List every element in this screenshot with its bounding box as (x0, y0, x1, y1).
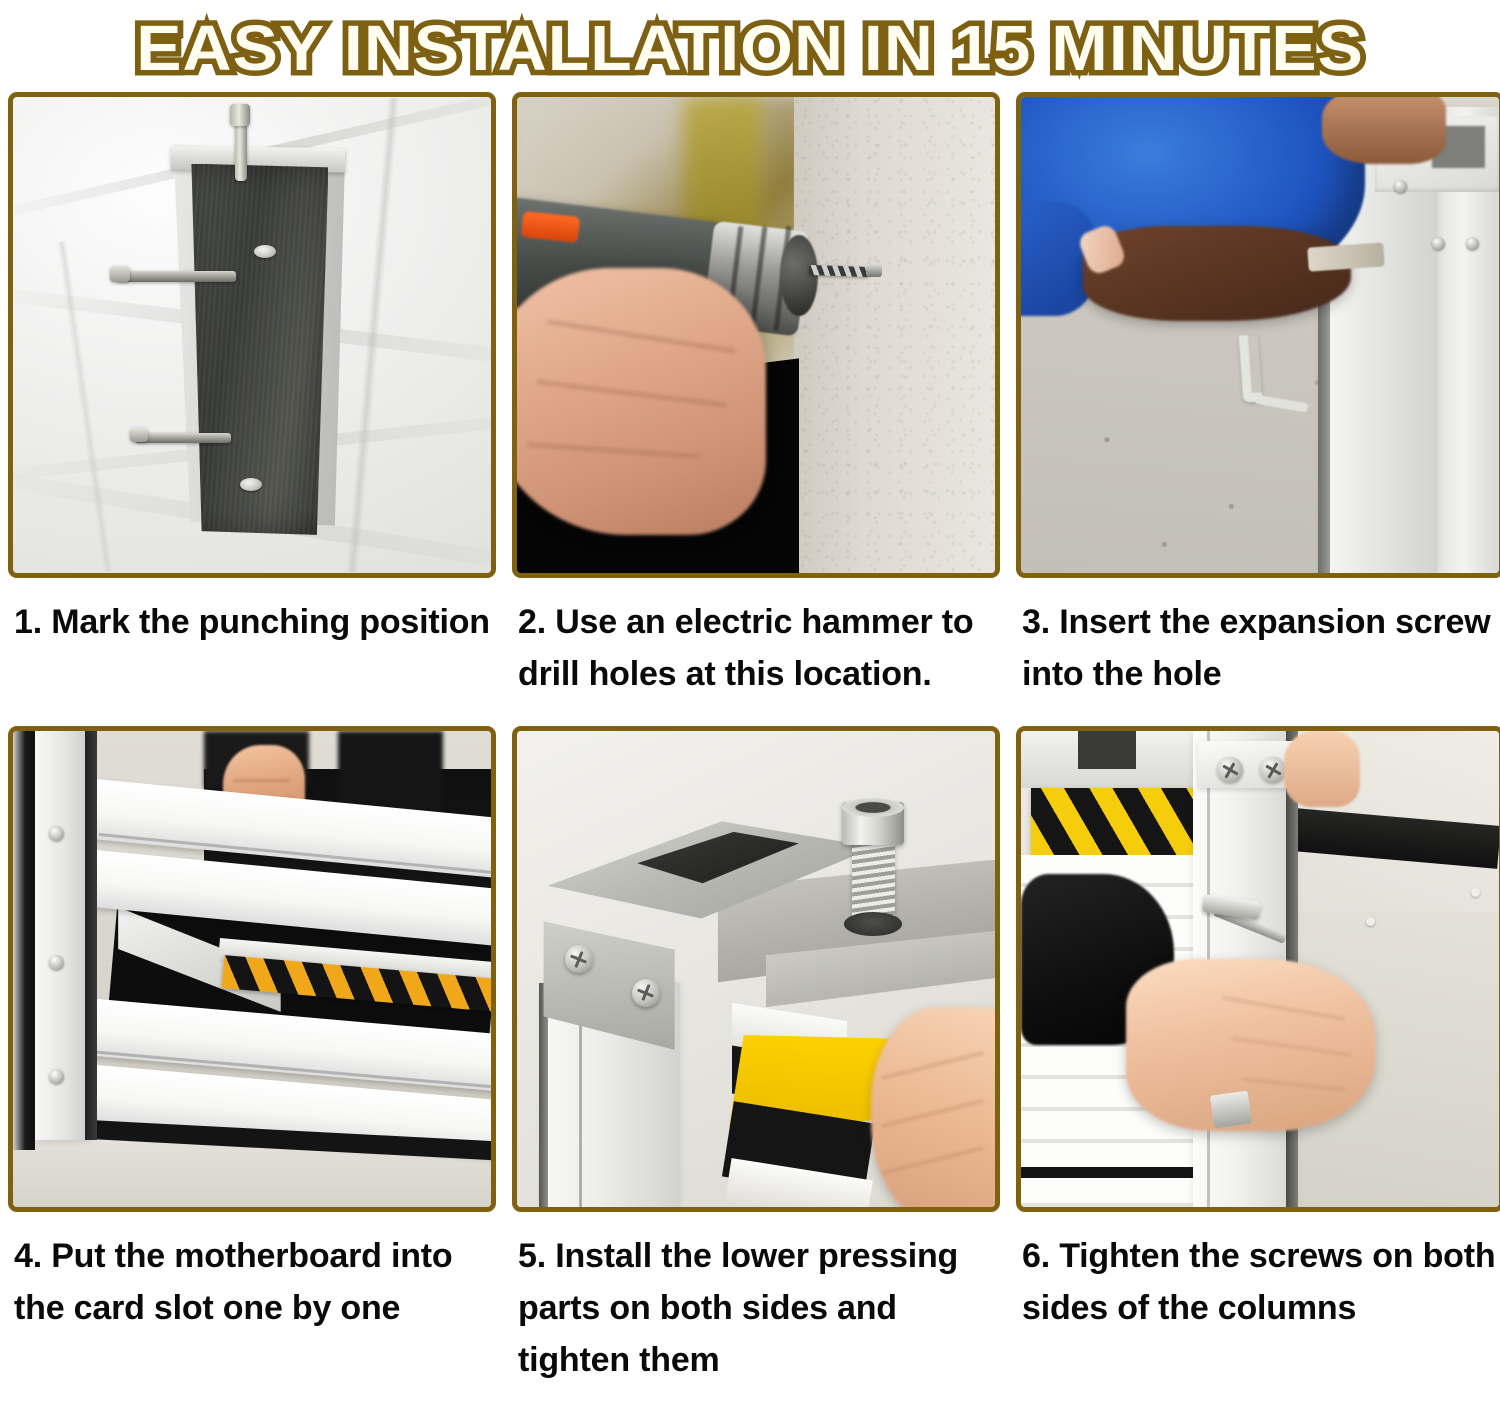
step-photo-6-tighten-screws (1021, 731, 1499, 1207)
step-photo-frame-2 (512, 92, 1000, 578)
step-card-4: 4. Put the motherboard into the card slo… (8, 726, 496, 1386)
step-card-2: 2. Use an electric hammer to drill holes… (512, 92, 1000, 726)
step-photo-frame-6 (1016, 726, 1500, 1212)
step-photo-4-insert-motherboard (13, 731, 491, 1207)
step-caption-3: 3. Insert the expansion screw into the h… (1016, 578, 1500, 726)
step-photo-frame-4 (8, 726, 496, 1212)
page-title: EASY INSTALLATION IN 15 MINUTES (136, 13, 1364, 83)
step-photo-frame-3 (1016, 92, 1500, 578)
step-photo-5-install-lower-pressing-parts (517, 731, 995, 1207)
step-photo-frame-5 (512, 726, 1000, 1212)
step-photo-3-insert-expansion-screw (1021, 97, 1499, 573)
step-caption-5: 5. Install the lower pressing parts on b… (512, 1212, 1000, 1386)
step-caption-2: 2. Use an electric hammer to drill holes… (512, 578, 1000, 726)
step-photo-frame-1 (8, 92, 496, 578)
step-caption-4: 4. Put the motherboard into the card slo… (8, 1212, 496, 1362)
step-card-6: 6. Tighten the screws on both sides of t… (1016, 726, 1500, 1386)
step-card-5: 5. Install the lower pressing parts on b… (512, 726, 1000, 1386)
step-card-3: 3. Insert the expansion screw into the h… (1016, 92, 1500, 726)
step-card-1: 1. Mark the punching position (8, 92, 496, 726)
step-caption-6: 6. Tighten the screws on both sides of t… (1016, 1212, 1500, 1362)
step-photo-1-mark-punching-position (13, 97, 491, 573)
page-header: EASY INSTALLATION IN 15 MINUTES (0, 0, 1500, 92)
installation-guide-page: EASY INSTALLATION IN 15 MINUTES (0, 0, 1500, 1403)
steps-grid: 1. Mark the punching position (0, 92, 1500, 1386)
step-photo-2-drill-holes (517, 97, 995, 573)
step-caption-1: 1. Mark the punching position (8, 578, 496, 726)
